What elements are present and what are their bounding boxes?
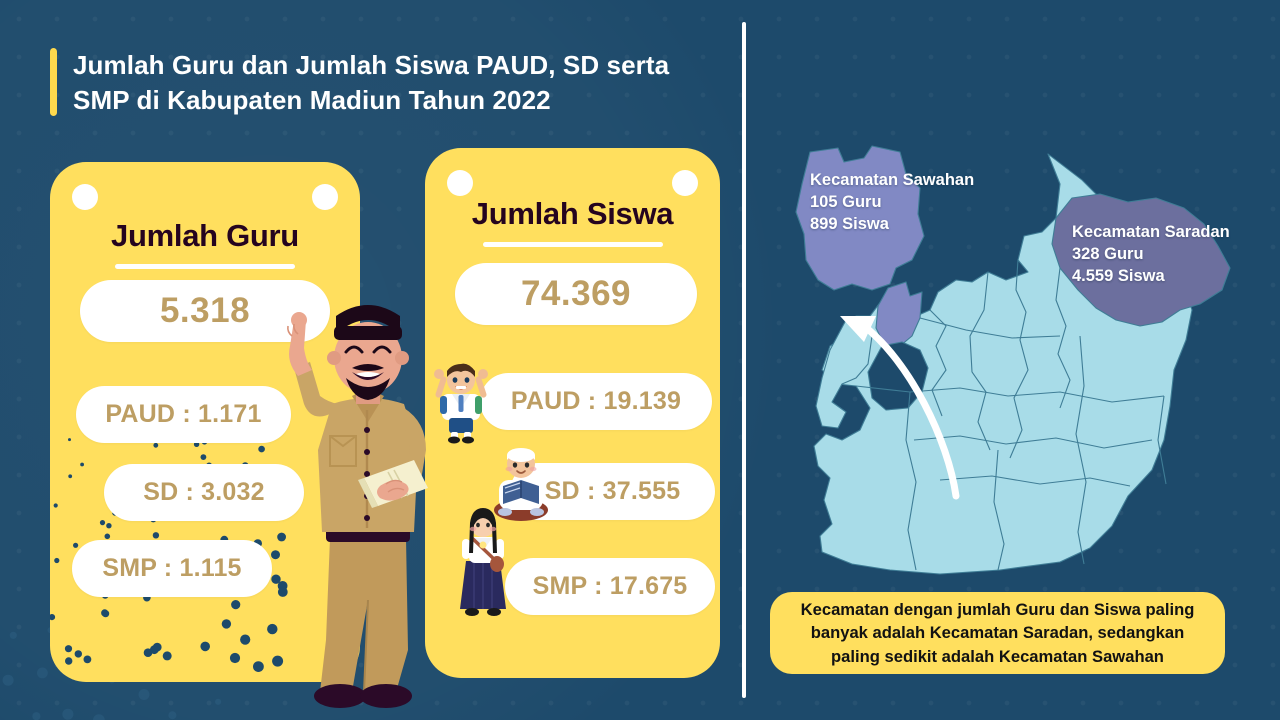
left-title-block: Jumlah Guru dan Jumlah Siswa PAUD, SD se…	[50, 48, 669, 117]
card-hole-right-icon	[312, 184, 338, 210]
map-label-sawahan: Kecamatan Sawahan 105 Guru 899 Siswa	[810, 170, 974, 235]
stat-row-guru-smp: SMP : 1.115	[72, 540, 272, 597]
title-accent-bar	[50, 48, 57, 116]
card-underline	[115, 264, 295, 269]
stat-row-siswa-smp: SMP : 17.675	[505, 558, 715, 615]
map-caption-text: Kecamatan dengan jumlah Guru dan Siswa p…	[801, 598, 1195, 669]
map-caption-box: Kecamatan dengan jumlah Guru dan Siswa p…	[770, 592, 1225, 674]
card-hole-left-icon	[72, 184, 98, 210]
student-paud-illustration	[430, 358, 492, 444]
page-title: Jumlah Guru dan Jumlah Siswa PAUD, SD se…	[73, 48, 669, 117]
stat-row-guru-paud: PAUD : 1.171	[76, 386, 291, 443]
map-label-saradan: Kecamatan Saradan 328 Guru 4.559 Siswa	[1072, 222, 1230, 287]
card-title-siswa: Jumlah Siswa	[425, 196, 720, 232]
stat-value-siswa-total: 74.369	[455, 263, 697, 325]
card-title-guru: Jumlah Guru	[50, 218, 360, 254]
left-panel: Jumlah Guru dan Jumlah Siswa PAUD, SD se…	[0, 0, 745, 720]
student-smp-illustration	[452, 505, 514, 623]
stat-row-siswa-paud: PAUD : 19.139	[480, 373, 712, 430]
card-underline	[483, 242, 663, 247]
card-hole-left-icon	[447, 170, 473, 196]
card-hole-right-icon	[672, 170, 698, 196]
